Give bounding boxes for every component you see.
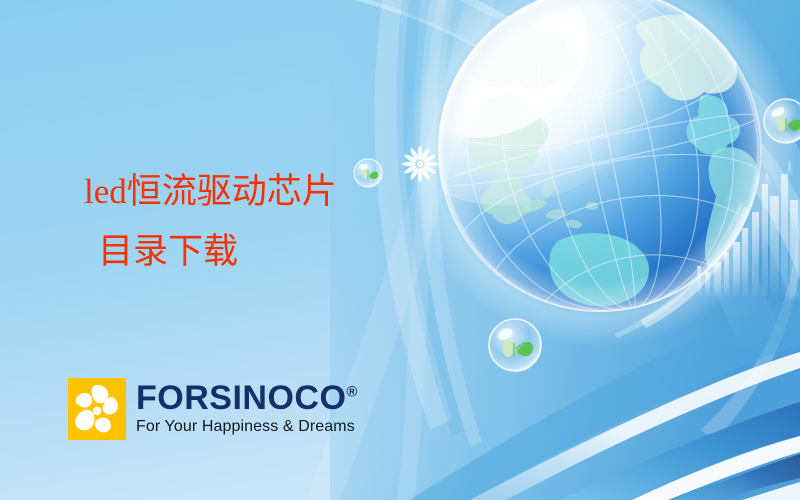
logo-wordmark: FORSINOCO® For Your Happiness & Dreams (136, 380, 358, 436)
logo-mark-icon (68, 378, 126, 440)
bubble-leaf-small (354, 159, 382, 187)
registered-mark-icon: ® (346, 384, 358, 401)
bubble-right-edge (764, 99, 800, 143)
brand-name: FORSINOCO® (136, 380, 358, 416)
brand-name-text: FORSINOCO (136, 379, 346, 417)
bubble-sprout (489, 319, 541, 371)
poster-canvas: led恒流驱动芯片 目录下载 FORSINOCO® For Your (0, 0, 800, 500)
brand-tagline: For Your Happiness & Dreams (136, 417, 358, 436)
brand-logo: FORSINOCO® For Your Happiness & Dreams (68, 378, 358, 440)
